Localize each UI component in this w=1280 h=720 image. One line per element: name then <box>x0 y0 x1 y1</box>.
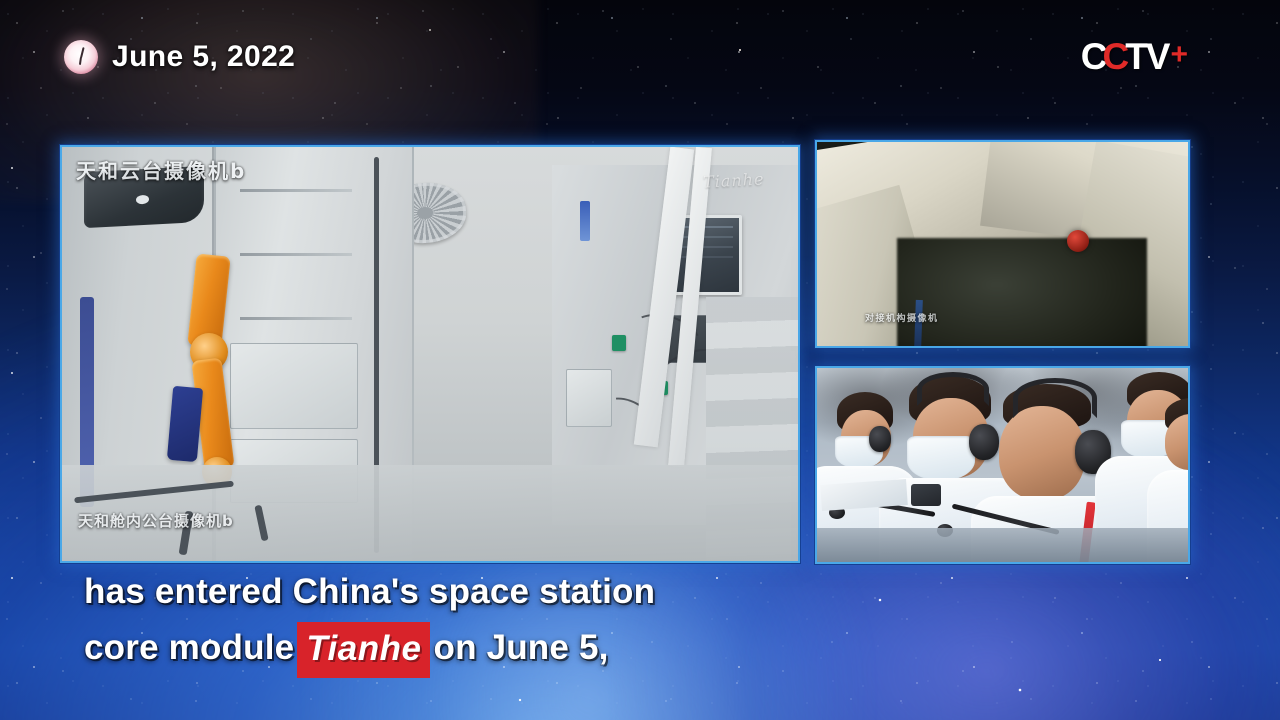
control-desk <box>817 528 1188 562</box>
video-panel-top-right[interactable]: 对接机构摄像机 <box>815 140 1190 348</box>
mission-control-image <box>817 368 1188 562</box>
station-interior-image: 天和云台摄像机b 天和舱内公台摄像机b Tianhe <box>62 147 798 561</box>
headset-band <box>1013 378 1097 418</box>
docking-port-shadow <box>897 238 1147 348</box>
rack-shelf <box>240 253 352 256</box>
video-panel-main[interactable]: 天和云台摄像机b 天和舱内公台摄像机b Tianhe <box>60 145 800 563</box>
header-bar: June 5, 2022 C C TV + <box>0 0 1280 130</box>
console-blue-strip <box>580 201 590 241</box>
date-label: June 5, 2022 <box>112 40 295 74</box>
docking-indicator-light <box>1067 230 1089 252</box>
subtitle-block: has entered China's space station core m… <box>0 566 1280 686</box>
cabin-tool <box>254 505 268 542</box>
rack-shelf <box>240 317 352 320</box>
feed-overlay-label-top-right: 对接机构摄像机 <box>865 311 939 324</box>
cabin-handrail <box>74 481 234 504</box>
clock-icon <box>64 40 98 74</box>
operator-badge <box>911 484 941 506</box>
operator-head <box>999 406 1085 500</box>
video-panel-bottom-right[interactable] <box>815 366 1190 564</box>
cabin-blue-pouch <box>167 386 203 462</box>
headset-earcup <box>869 426 891 452</box>
logo-plus-icon: + <box>1170 40 1186 70</box>
broadcast-frame: June 5, 2022 C C TV + <box>0 0 1280 720</box>
headset-band <box>917 372 989 406</box>
rack-shelf <box>240 189 352 192</box>
logo-tv: TV <box>1125 38 1168 75</box>
headset-earcup <box>969 424 999 460</box>
logo-c-red: C <box>1102 38 1127 75</box>
docking-exterior-image: 对接机构摄像机 <box>817 142 1188 346</box>
feed-overlay-label-bottom: 天和舱内公台摄像机b <box>78 510 234 531</box>
cctv-plus-logo: C C TV + <box>1081 38 1186 75</box>
subtitle-line-1: has entered China's space station <box>84 566 1280 618</box>
subtitle-keyword-highlight: Tianhe <box>297 622 430 678</box>
subtitle-line-2-after: on June 5, <box>433 628 608 667</box>
rack-panel-box <box>230 343 358 429</box>
operator-face-mask <box>907 436 975 480</box>
date-stamp: June 5, 2022 <box>64 40 295 74</box>
subtitle-line-2-before: core module <box>84 628 294 667</box>
feed-overlay-label-top: 天和云台摄像机b <box>76 155 246 184</box>
subtitle-line-2: core moduleTianheon June 5, <box>84 621 1280 677</box>
feed-watermark: Tianhe <box>702 169 764 191</box>
